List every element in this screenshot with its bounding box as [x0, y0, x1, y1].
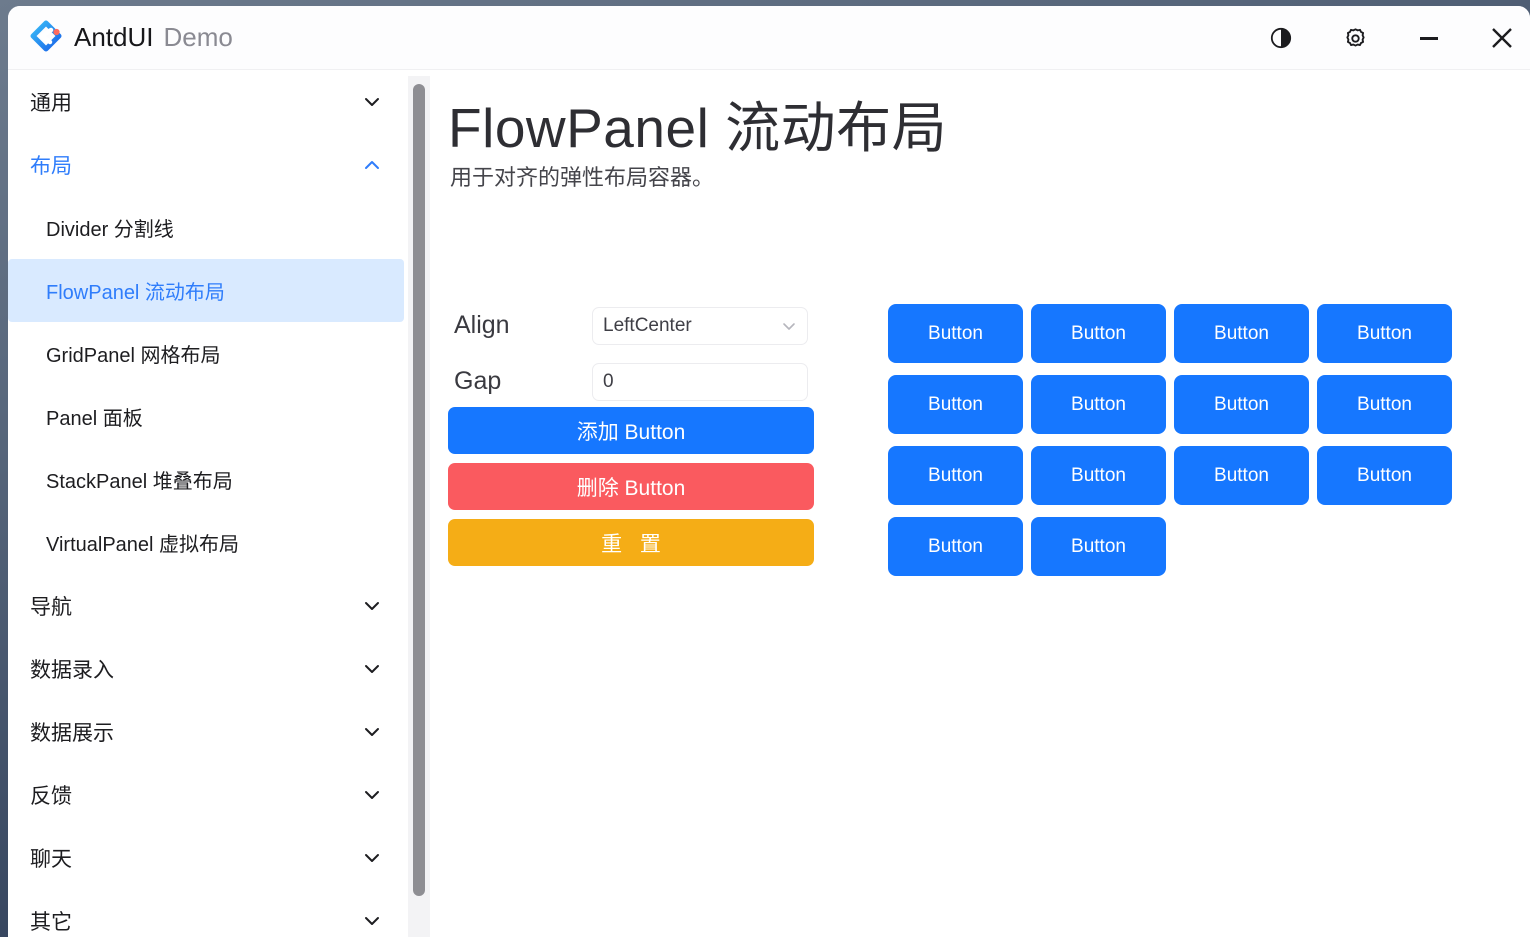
gap-input-value: 0: [603, 371, 614, 393]
delete-button-action[interactable]: 删除 Button: [448, 463, 814, 510]
sidebar-group-label: 聊天: [30, 843, 72, 873]
flow-button-3[interactable]: Button: [1317, 304, 1452, 363]
chevron-up-icon: [362, 155, 382, 175]
flow-button-0[interactable]: Button: [888, 304, 1023, 363]
theme-toggle-button[interactable]: [1259, 16, 1303, 60]
contrast-circle-icon: [1269, 26, 1293, 50]
flow-button-1[interactable]: Button: [1031, 304, 1166, 363]
flow-button-7[interactable]: Button: [1317, 375, 1452, 434]
chevron-down-icon: [362, 911, 382, 931]
sidebar-group-label: 其它: [30, 906, 72, 936]
flow-button-10[interactable]: Button: [1174, 446, 1309, 505]
sidebar-group-7[interactable]: 其它: [8, 889, 404, 937]
sidebar-item-label: VirtualPanel 虚拟布局: [46, 528, 239, 557]
minimize-button[interactable]: [1407, 16, 1451, 60]
sidebar-group-label: 反馈: [30, 780, 72, 810]
sidebar-group-label: 数据录入: [30, 654, 114, 684]
gear-icon: [1343, 26, 1368, 51]
gap-label: Gap: [454, 367, 501, 396]
sidebar-item-1-3[interactable]: Panel 面板: [8, 385, 404, 448]
flow-button-5[interactable]: Button: [1031, 375, 1166, 434]
close-icon: [1487, 23, 1517, 53]
chevron-down-icon: [362, 722, 382, 742]
align-select-value: LeftCenter: [603, 315, 692, 337]
chevron-down-icon: [781, 318, 797, 334]
sidebar-group-3[interactable]: 数据录入: [8, 637, 404, 700]
chevron-down-icon: [362, 596, 382, 616]
sidebar-group-1[interactable]: 布局: [8, 133, 404, 196]
sidebar-group-label: 数据展示: [30, 717, 114, 747]
flow-button-12[interactable]: Button: [888, 517, 1023, 576]
flow-button-13[interactable]: Button: [1031, 517, 1166, 576]
sidebar-item-label: Panel 面板: [46, 402, 143, 431]
sidebar-group-label: 布局: [30, 150, 72, 180]
sidebar-item-1-1[interactable]: FlowPanel 流动布局: [8, 259, 404, 322]
chevron-down-icon: [362, 848, 382, 868]
flow-button-6[interactable]: Button: [1174, 375, 1309, 434]
minimize-icon: [1416, 25, 1442, 51]
sidebar-group-0[interactable]: 通用: [8, 70, 404, 133]
align-label: Align: [454, 311, 510, 340]
sidebar-item-1-4[interactable]: StackPanel 堆叠布局: [8, 448, 404, 511]
chevron-down-icon: [362, 659, 382, 679]
sidebar-item-1-0[interactable]: Divider 分割线: [8, 196, 404, 259]
flow-button-4[interactable]: Button: [888, 375, 1023, 434]
reset-button-action[interactable]: 重 置: [448, 519, 814, 566]
app-title-sub: Demo: [164, 22, 233, 52]
sidebar-item-label: FlowPanel 流动布局: [46, 276, 225, 305]
sidebar-group-6[interactable]: 聊天: [8, 826, 404, 889]
sidebar-navigation[interactable]: 通用布局Divider 分割线FlowPanel 流动布局GridPanel 网…: [8, 70, 404, 937]
flow-button-2[interactable]: Button: [1174, 304, 1309, 363]
sidebar-item-label: Divider 分割线: [46, 213, 174, 242]
app-title: AntdUIDemo: [74, 19, 233, 55]
page-title: FlowPanel 流动布局: [448, 83, 947, 163]
gap-input[interactable]: 0: [592, 363, 808, 401]
align-select[interactable]: LeftCenter: [592, 307, 808, 345]
sidebar-group-label: 通用: [30, 87, 72, 117]
title-bar: AntdUIDemo: [8, 6, 1530, 70]
sidebar-group-2[interactable]: 导航: [8, 574, 404, 637]
sidebar-item-label: StackPanel 堆叠布局: [46, 465, 233, 494]
add-button-action[interactable]: 添加 Button: [448, 407, 814, 454]
chevron-down-icon: [362, 92, 382, 112]
flow-button-9[interactable]: Button: [1031, 446, 1166, 505]
sidebar-list: 通用布局Divider 分割线FlowPanel 流动布局GridPanel 网…: [8, 70, 404, 937]
sidebar-scrollbar-thumb[interactable]: [413, 84, 425, 896]
sidebar-item-1-2[interactable]: GridPanel 网格布局: [8, 322, 404, 385]
window-body: AntdUIDemo: [8, 6, 1530, 937]
antdui-logo-icon: [28, 20, 64, 56]
flow-button-11[interactable]: Button: [1317, 446, 1452, 505]
settings-button[interactable]: [1333, 16, 1377, 60]
sidebar-item-label: GridPanel 网格布局: [46, 339, 221, 368]
sidebar-group-5[interactable]: 反馈: [8, 763, 404, 826]
page-description: 用于对齐的弹性布局容器。: [450, 160, 714, 192]
chevron-down-icon: [362, 785, 382, 805]
application-window: AntdUIDemo: [0, 0, 1530, 937]
sidebar-group-label: 导航: [30, 591, 72, 621]
main-content: FlowPanel 流动布局 用于对齐的弹性布局容器。 Align LeftCe…: [430, 70, 1530, 937]
app-title-main: AntdUI: [74, 22, 154, 52]
sidebar-group-4[interactable]: 数据展示: [8, 700, 404, 763]
flow-panel-container: ButtonButtonButtonButtonButtonButtonButt…: [888, 304, 1468, 588]
close-button[interactable]: [1480, 16, 1524, 60]
sidebar-item-1-5[interactable]: VirtualPanel 虚拟布局: [8, 511, 404, 574]
flow-button-8[interactable]: Button: [888, 446, 1023, 505]
